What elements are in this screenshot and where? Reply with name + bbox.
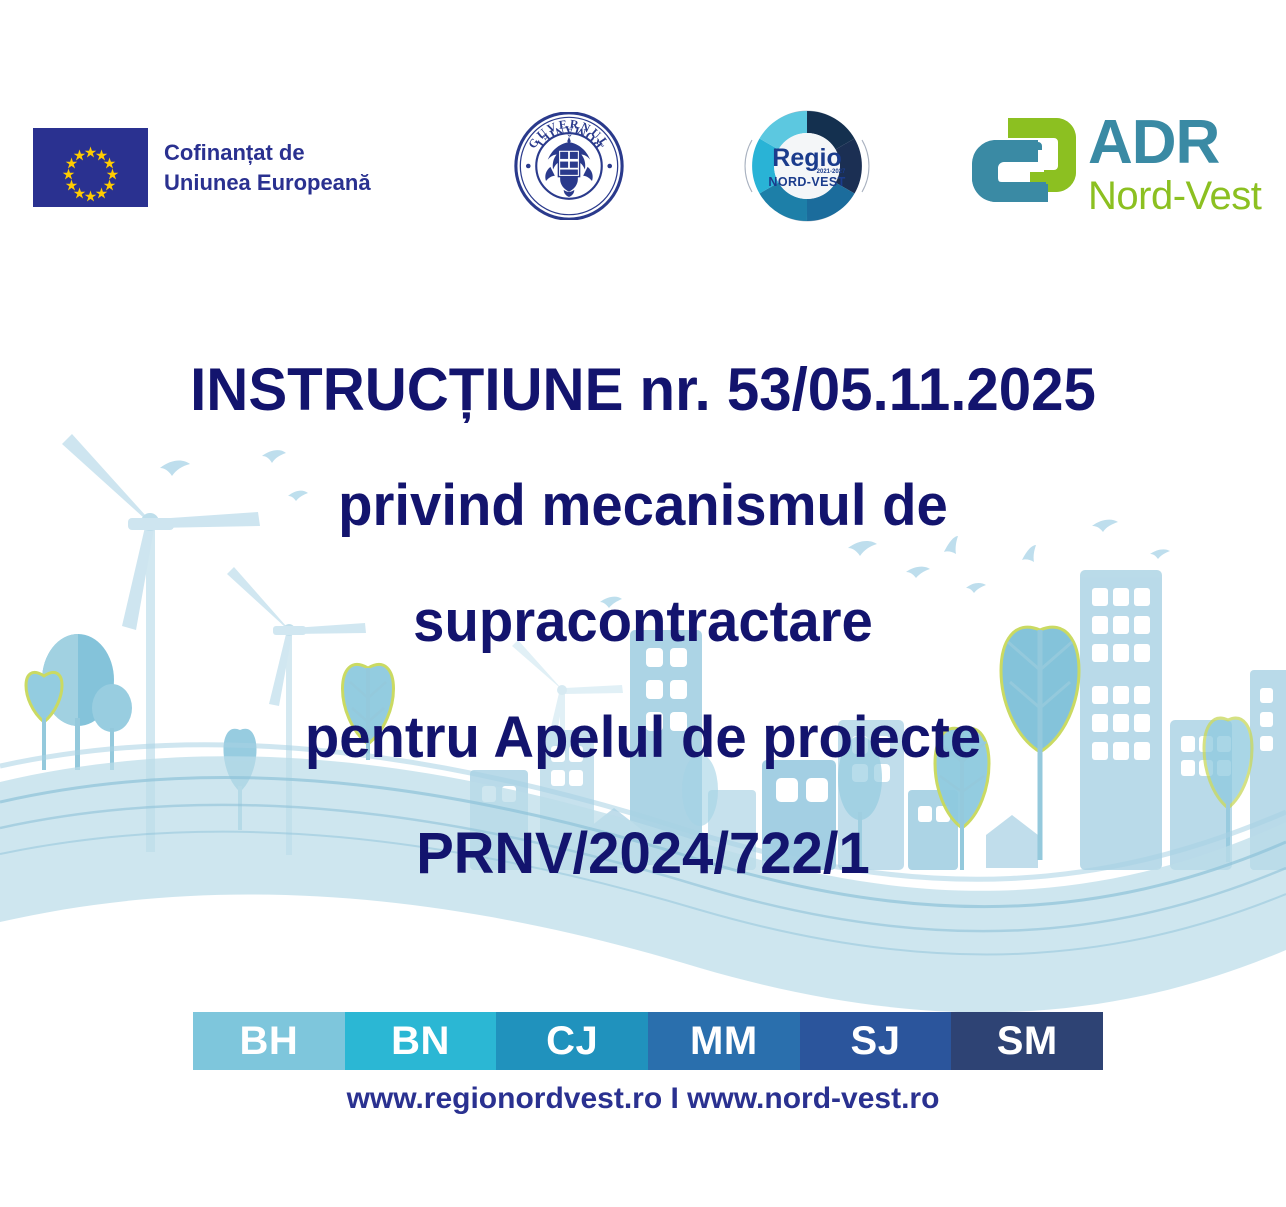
county-cell-cj[interactable]: CJ [496, 1012, 648, 1070]
adr-title: ADR [1088, 112, 1261, 174]
page-title: INSTRUCȚIUNE nr. 53/05.11.2025 privind m… [0, 332, 1286, 912]
regio-nord-vest-logo: Regio 2021-2027 NORD-VEST [738, 110, 876, 222]
eu-cofinancing-text: Cofinanțat de Uniunea Europeană [164, 138, 371, 196]
title-line-4: pentru Apelul de proiecte [19, 680, 1266, 796]
regio-subtext: NORD-VEST [768, 175, 845, 189]
eu-text-line2: Uniunea Europeană [164, 170, 371, 195]
county-cell-bh[interactable]: BH [193, 1012, 345, 1070]
county-cell-sj[interactable]: SJ [800, 1012, 952, 1070]
eu-flag-icon [33, 128, 148, 207]
adr-nord-vest-logo: ADR Nord-Vest [968, 112, 1261, 216]
adr-subtitle: Nord-Vest [1088, 176, 1261, 216]
county-cell-mm[interactable]: MM [648, 1012, 800, 1070]
county-cell-bn[interactable]: BN [345, 1012, 497, 1070]
logo-strip: Cofinanțat de Uniunea Europeană GUVERNUL… [0, 0, 1286, 300]
title-line-2: privind mecanismul de [19, 448, 1266, 564]
footer-urls[interactable]: www.regionordvest.ro I www.nord-vest.ro [0, 1082, 1286, 1116]
adr-mark-icon [968, 112, 1080, 216]
title-line-5: PRNV/2024/722/1 [19, 796, 1266, 912]
counties-bar: BH BN CJ MM SJ SM [193, 1012, 1103, 1070]
eu-cofinancing-logo: Cofinanțat de Uniunea Europeană [33, 128, 371, 207]
regio-wordmark: Regio [772, 144, 841, 172]
adr-wordmark: ADR Nord-Vest [1088, 112, 1261, 216]
title-line-1: INSTRUCȚIUNE nr. 53/05.11.2025 [19, 332, 1266, 448]
title-line-3: supracontractare [19, 564, 1266, 680]
eu-text-line1: Cofinanțat de [164, 140, 305, 165]
coat-of-arms-icon [545, 137, 592, 197]
county-cell-sm[interactable]: SM [951, 1012, 1103, 1070]
romanian-government-logo: GUVERNUL ROMÂNIEI [508, 112, 630, 220]
